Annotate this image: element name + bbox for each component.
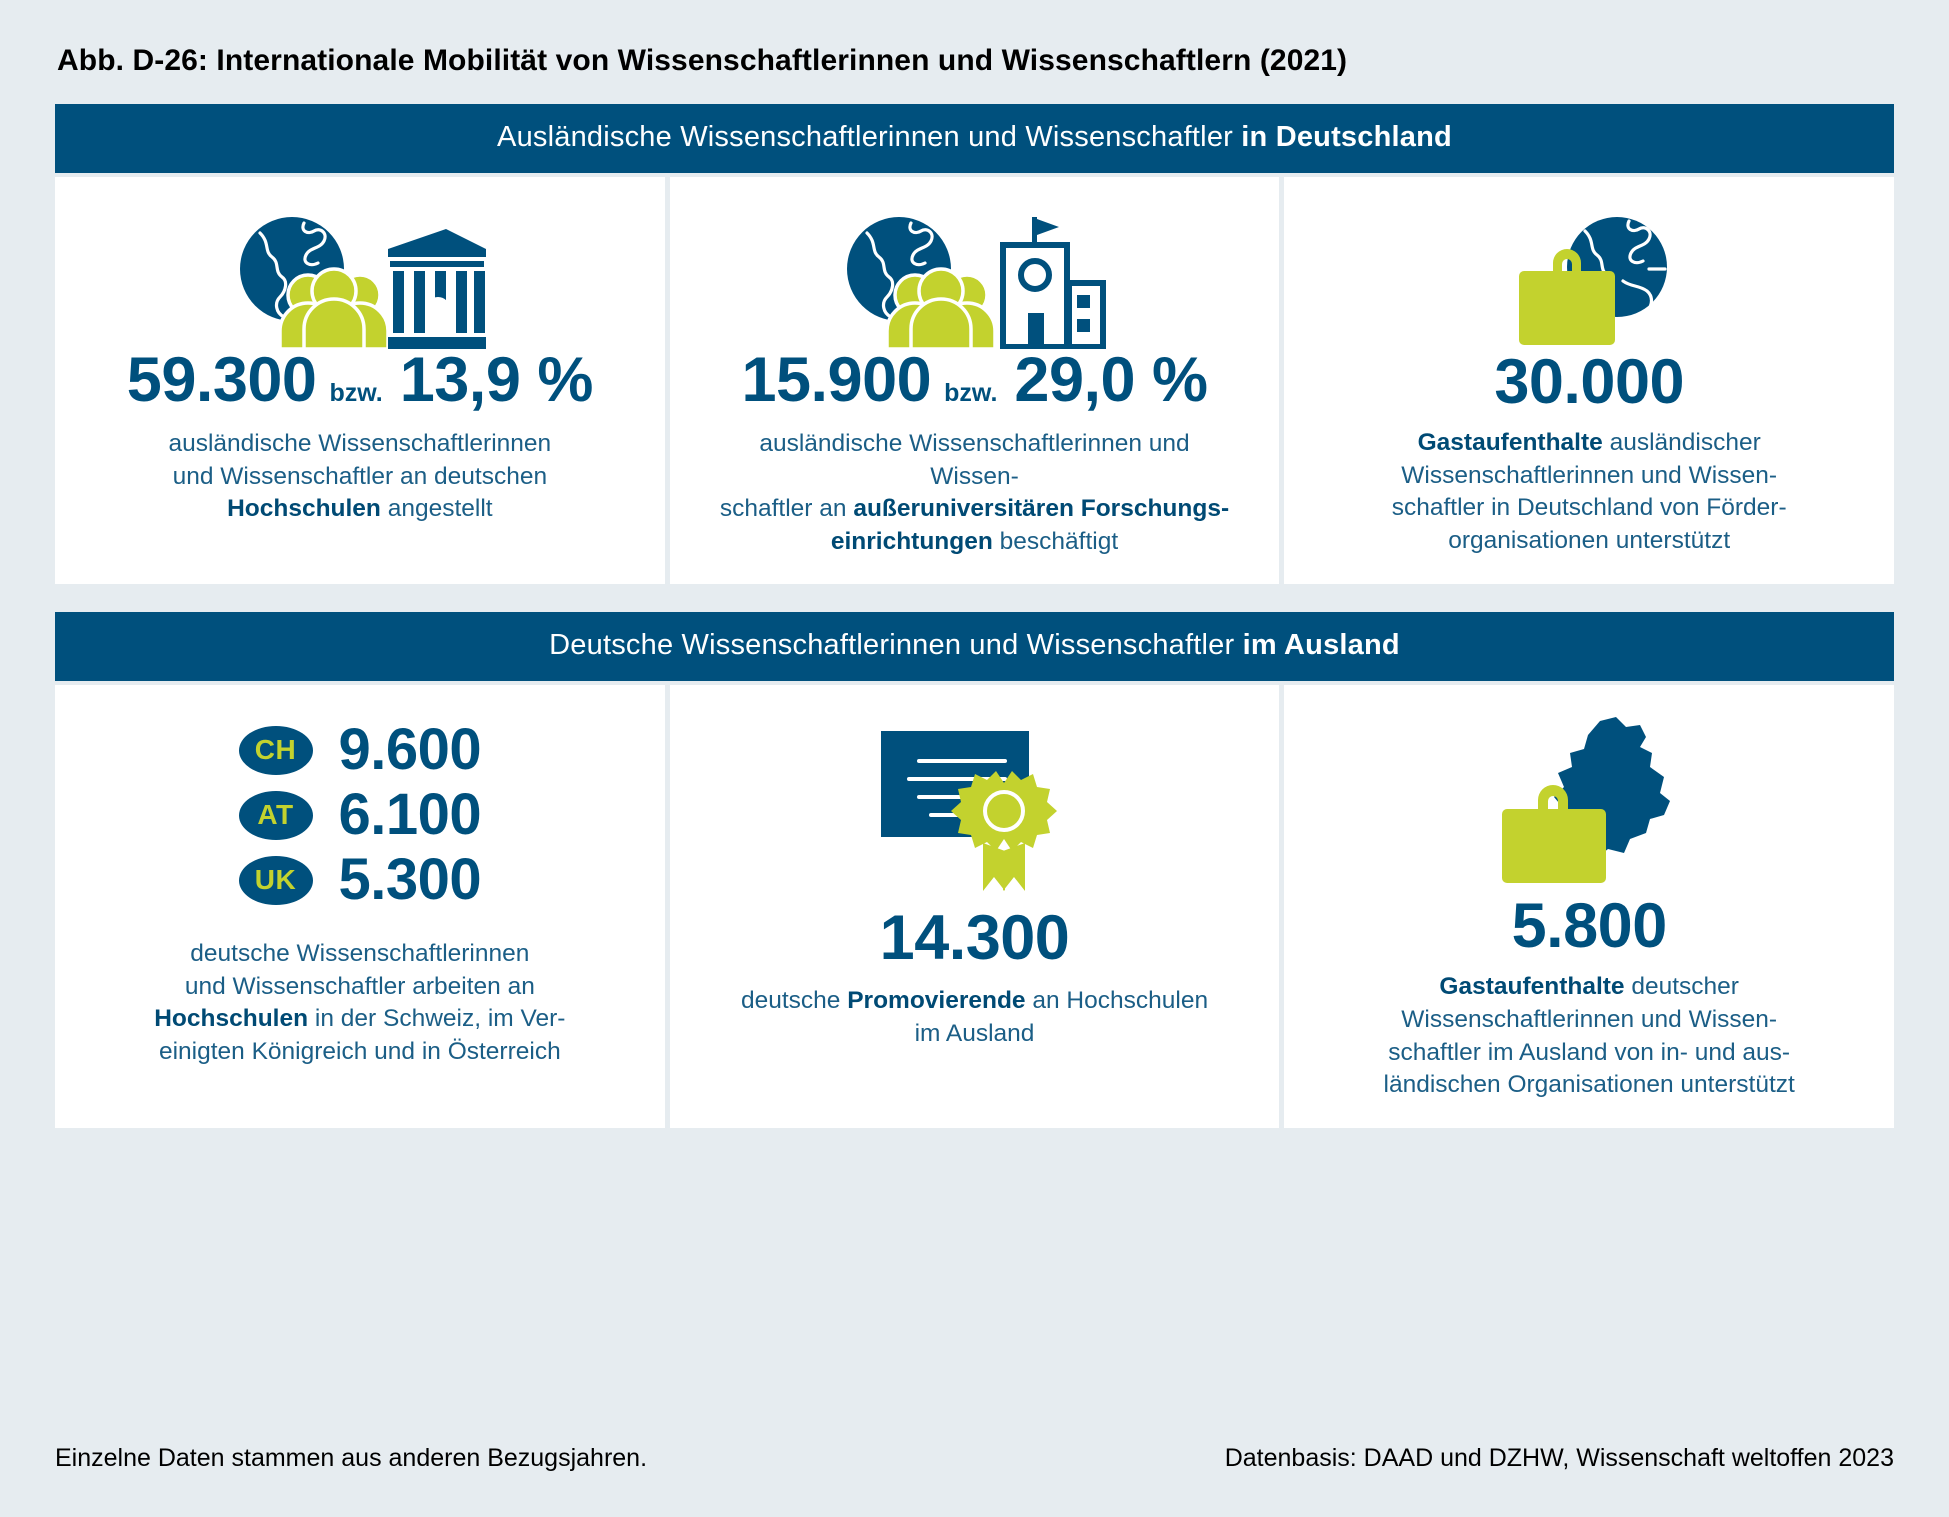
list-item: UK 5.300 (239, 851, 482, 909)
value-primary: 59.300 (127, 349, 317, 412)
globe-people-university-icon (230, 199, 490, 349)
footer: Einzelne Daten stammen aus anderen Bezug… (55, 1444, 1894, 1473)
value-secondary: 29,0 % (1014, 349, 1207, 412)
country-badge-uk: UK (239, 856, 313, 905)
footer-source: Datenbasis: DAAD und DZHW, Wissenschaft … (1225, 1444, 1894, 1473)
suitcase-globe-icon (1489, 199, 1689, 349)
card-hochschulen-angestellt: 59.300 bzw. 13,9 % ausländische Wissensc… (55, 177, 665, 584)
caption-line-4: organisationen unterstützt (1448, 527, 1730, 554)
caption-line-4: ländischen Organisationen unterstützt (1384, 1071, 1795, 1098)
card-gastaufenthalte-ausland: 5.800 Gastaufenthalte deutscher Wissensc… (1279, 685, 1894, 1127)
caption-line-1-bold: Promovierende (847, 987, 1025, 1014)
list-item: AT 6.100 (239, 786, 482, 844)
infographic-page: Abb. D-26: Internationale Mobilität von … (0, 0, 1949, 1517)
caption-line-2: und Wissenschaftler an deutschen (173, 463, 548, 490)
caption-line-1-rest: deutsche (741, 987, 847, 1014)
caption-line-1-bold: Gastaufenthalte (1418, 429, 1603, 456)
caption-line-3-bold: einrichtungen (831, 528, 993, 555)
caption-line-2: Wissenschaftlerinnen und Wissen- (1401, 462, 1777, 489)
caption-line-3-rest: angestellt (381, 495, 493, 522)
card-caption: Gastaufenthalte ausländischer Wissenscha… (1392, 427, 1787, 557)
page-title: Abb. D-26: Internationale Mobilität von … (55, 0, 1894, 78)
value-secondary: 13,9 % (400, 349, 593, 412)
card-caption: deutsche Wissenschaftlerinnen und Wissen… (154, 938, 565, 1068)
card-value-row: 59.300 bzw. 13,9 % (127, 349, 593, 412)
section-header-2: Deutsche Wissenschaftlerinnen und Wissen… (55, 612, 1894, 681)
caption-line-2: Wissenschaftlerinnen und Wissen- (1401, 1006, 1777, 1033)
caption-line-3: schaftler im Ausland von in- und aus- (1388, 1039, 1790, 1066)
card-hochschulen-ausland: CH 9.600 AT 6.100 UK 5.300 deutsche Wiss… (55, 685, 665, 1127)
caption-line-1-rest: deutscher (1625, 973, 1739, 1000)
country-badge-ch: CH (239, 726, 313, 775)
card-value: 30.000 (1494, 349, 1684, 415)
caption-line-3-rest: in der Schweiz, im Ver- (308, 1005, 565, 1032)
list-item: CH 9.600 (239, 721, 482, 779)
caption-line-3-bold: Hochschulen (227, 495, 381, 522)
cards-row-2: CH 9.600 AT 6.100 UK 5.300 deutsche Wiss… (55, 681, 1894, 1127)
footer-note: Einzelne Daten stammen aus anderen Bezug… (55, 1444, 647, 1473)
section-deutsche-im-ausland: Deutsche Wissenschaftlerinnen und Wissen… (55, 612, 1894, 1127)
caption-line-2-rest: schaftler an (720, 495, 853, 522)
country-badge-list: CH 9.600 AT 6.100 UK 5.300 (239, 721, 482, 916)
card-caption: deutsche Promovierende an Hochschulen im… (741, 985, 1208, 1050)
section-auslaendische-in-deutschland: Ausländische Wissenschaftlerinnen und Wi… (55, 104, 1894, 584)
section-header-1-bold: in Deutschland (1241, 121, 1452, 153)
section-header-1-prefix: Ausländische Wissenschaftlerinnen und Wi… (497, 121, 1241, 153)
caption-line-1: ausländische Wissenschaftlerinnen (168, 430, 551, 457)
certificate-rosette-icon (865, 715, 1085, 891)
card-promovierende-ausland: 14.300 deutsche Promovierende an Hochsch… (665, 685, 1280, 1127)
country-value-uk: 5.300 (339, 851, 482, 909)
value-connector: bzw. (944, 381, 997, 406)
value-connector: bzw. (329, 381, 382, 406)
card-caption: Gastaufenthalte deutscher Wissenschaftle… (1384, 971, 1795, 1101)
cards-row-1: 59.300 bzw. 13,9 % ausländische Wissensc… (55, 173, 1894, 584)
country-value-ch: 9.600 (339, 721, 482, 779)
caption-line-2: und Wissenschaftler arbeiten an (185, 973, 535, 1000)
value-primary: 15.900 (741, 349, 931, 412)
globe-people-institute-icon (837, 199, 1112, 349)
card-value: 14.300 (880, 905, 1070, 971)
suitcase-germany-map-icon (1482, 707, 1697, 883)
caption-line-1-bold: Gastaufenthalte (1439, 973, 1624, 1000)
country-badge-at: AT (239, 791, 313, 840)
caption-line-1-tail: an Hochschulen (1026, 987, 1209, 1014)
caption-line-1: ausländische Wissenschaftlerinnen und Wi… (759, 430, 1189, 490)
caption-line-4: einigten Königreich und in Österreich (159, 1038, 561, 1065)
card-value-row: 15.900 bzw. 29,0 % (741, 349, 1207, 412)
caption-line-1-rest: ausländischer (1603, 429, 1761, 456)
caption-line-3-rest: beschäftigt (993, 528, 1118, 555)
caption-line-3: schaftler in Deutschland von Förder- (1392, 494, 1787, 521)
card-gastaufenthalte-deutschland: 30.000 Gastaufenthalte ausländischer Wis… (1279, 177, 1894, 584)
caption-line-3-bold: Hochschulen (154, 1005, 308, 1032)
caption-line-2-bold: außeruniversitären Forschungs- (853, 495, 1229, 522)
card-value: 5.800 (1512, 893, 1667, 959)
caption-line-2: im Ausland (915, 1020, 1035, 1047)
section-header-2-bold: im Ausland (1243, 629, 1400, 661)
section-header-2-prefix: Deutsche Wissenschaftlerinnen und Wissen… (549, 629, 1242, 661)
card-caption: ausländische Wissenschaftlerinnen und Wi… (715, 428, 1235, 558)
section-header-1: Ausländische Wissenschaftlerinnen und Wi… (55, 104, 1894, 173)
card-caption: ausländische Wissenschaftlerinnen und Wi… (168, 428, 551, 526)
caption-line-1: deutsche Wissenschaftlerinnen (190, 940, 529, 967)
card-ausseruniversitaere-einrichtungen: 15.900 bzw. 29,0 % ausländische Wissensc… (665, 177, 1280, 584)
country-value-at: 6.100 (339, 786, 482, 844)
